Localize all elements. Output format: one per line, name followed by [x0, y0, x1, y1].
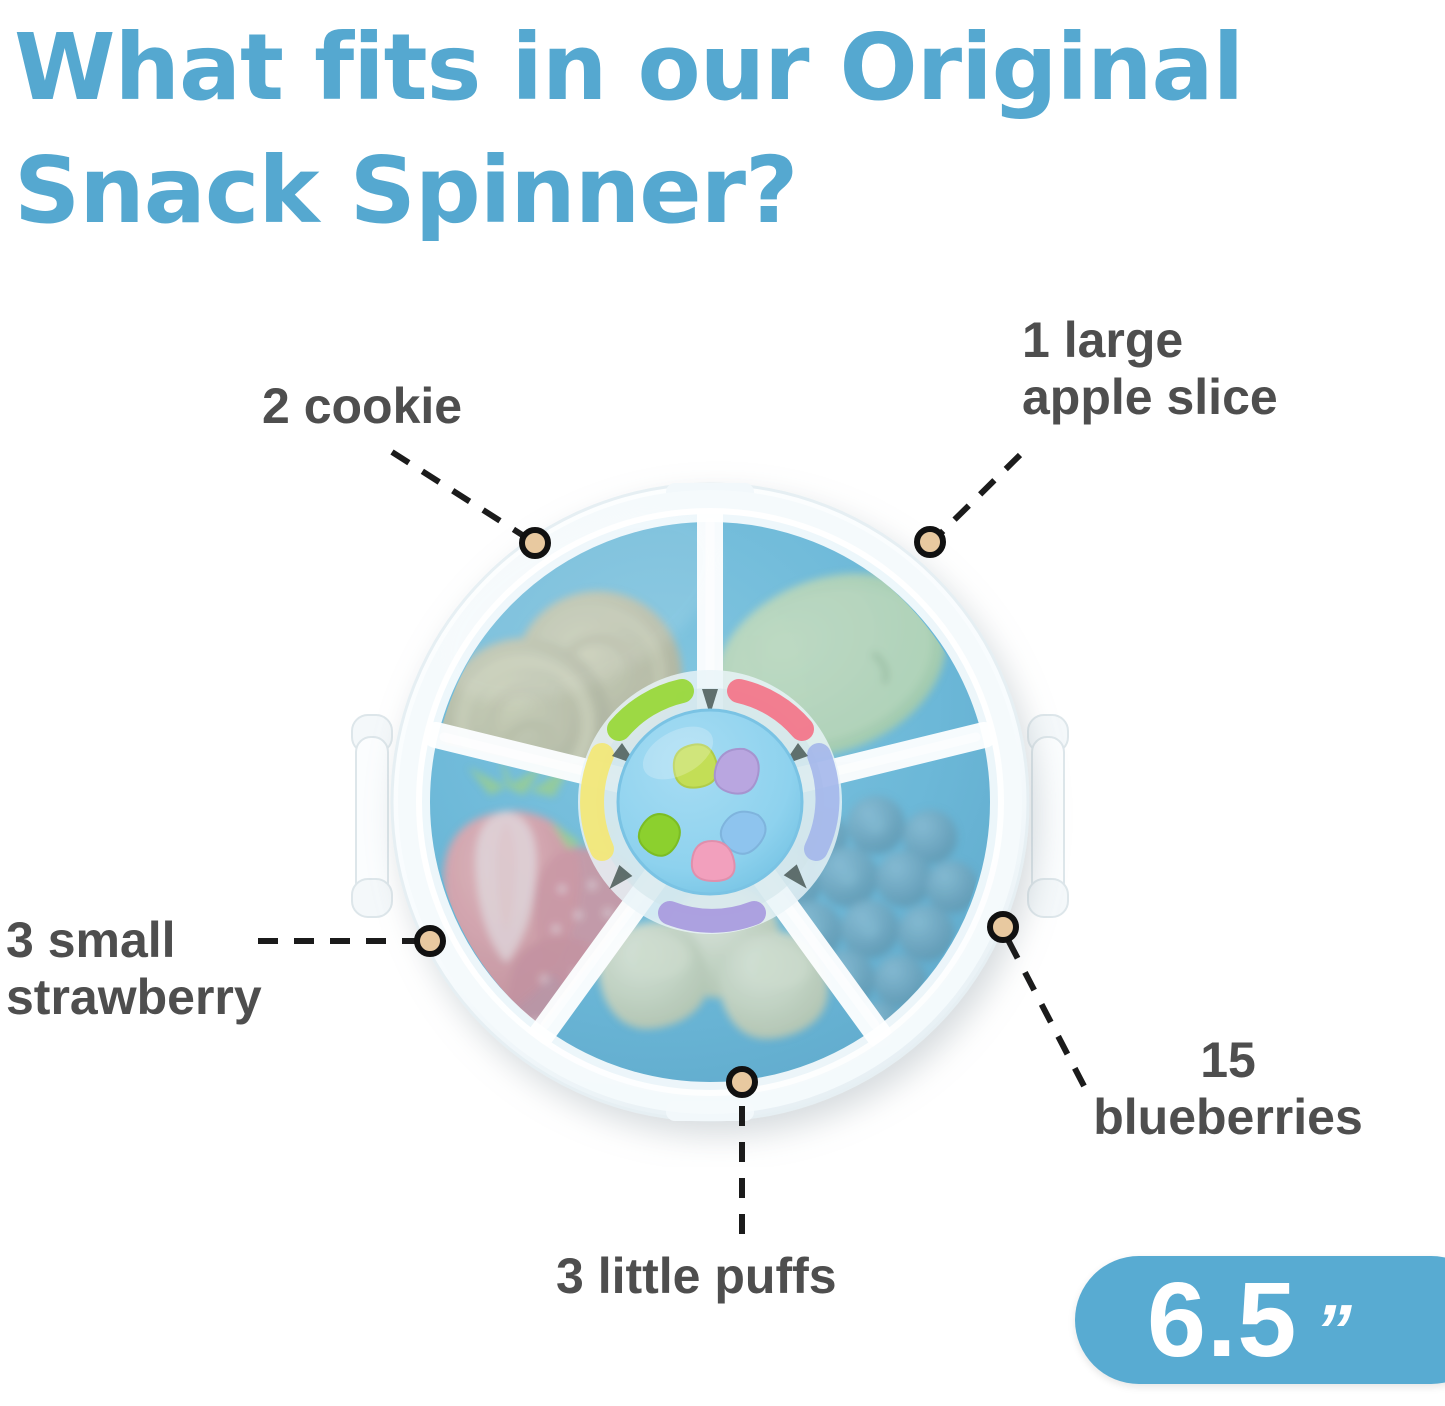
infographic-page: What fits in our Original Snack Spinner?	[0, 0, 1445, 1406]
snack-spinner-product	[330, 437, 1090, 1167]
center-hub	[578, 670, 842, 934]
size-badge-unit: ”	[1302, 1267, 1366, 1395]
page-title: What fits in our Original Snack Spinner?	[14, 6, 1414, 253]
size-badge-value: 6.5	[1147, 1256, 1297, 1384]
hinge-left-icon	[352, 715, 392, 917]
callout-label-cookie: 2 cookie	[262, 378, 462, 435]
page-title-line-1: What fits in our Original	[14, 6, 1414, 129]
callout-label-blueberries: 15 blueberries	[1028, 1032, 1428, 1145]
callout-label-strawberry: 3 small strawberry	[6, 912, 262, 1025]
callout-label-puffs: 3 little puffs	[556, 1248, 837, 1305]
callout-label-apple: 1 large apple slice	[1022, 312, 1278, 425]
size-badge: 6.5 ”	[1075, 1256, 1445, 1384]
hinge-right-icon	[1028, 715, 1068, 917]
page-title-line-2: Snack Spinner?	[14, 129, 1414, 252]
